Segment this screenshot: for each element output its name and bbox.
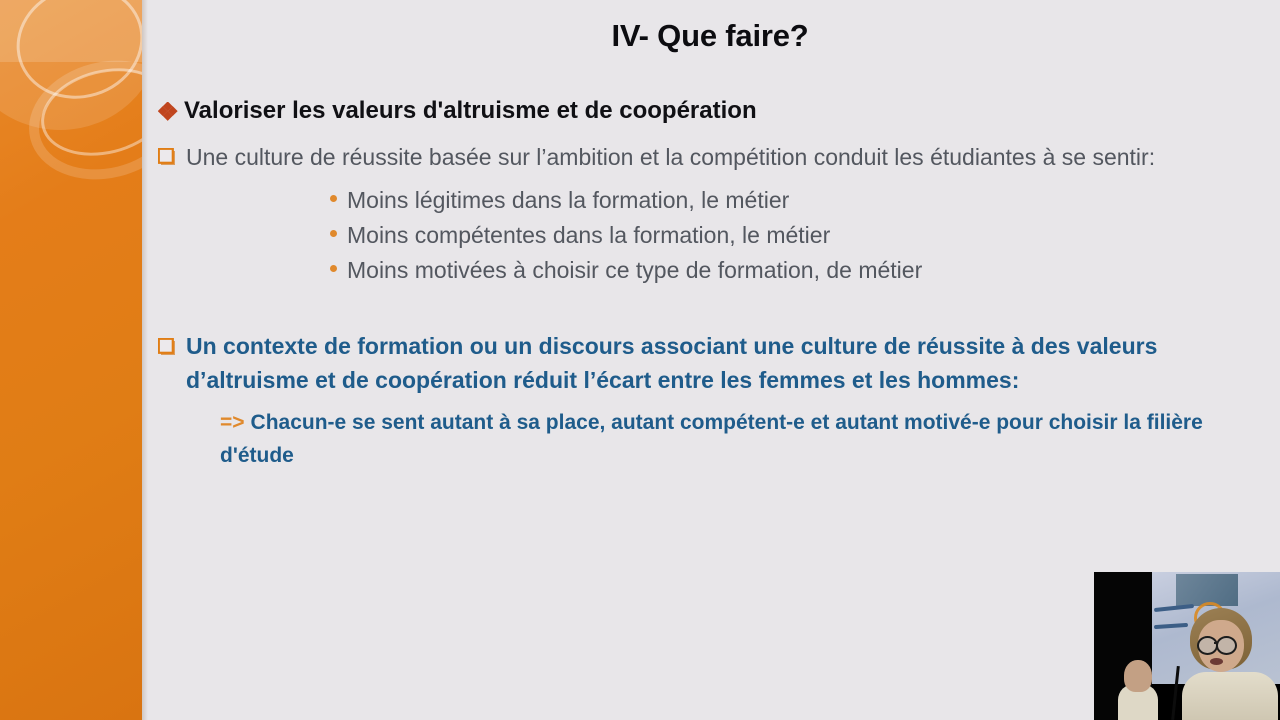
list-item: Moins motivées à choisir ce type de form…: [330, 253, 1268, 287]
speaker-glasses-left: [1197, 636, 1218, 655]
dot-bullet-icon: [330, 183, 347, 202]
sub-bullet-text: Moins compétentes dans la formation, le …: [347, 218, 830, 252]
block1-text: Une culture de réussite basée sur l’ambi…: [186, 140, 1155, 175]
slide-title: IV- Que faire?: [148, 18, 1272, 54]
presentation-slide: IV- Que faire? Valoriser les valeurs d'a…: [0, 0, 1280, 720]
arrow-marker: =>: [220, 411, 245, 434]
speaker-glasses-bridge: [1214, 642, 1217, 644]
list-item: Moins légitimes dans la formation, le mé…: [330, 183, 1268, 217]
heading-row: Valoriser les valeurs d'altruisme et de …: [158, 96, 1268, 126]
sidebar-shadow-edge: [142, 0, 148, 720]
list-item: Moins compétentes dans la formation, le …: [330, 218, 1268, 252]
conclusion-text: Chacun-e se sent autant à sa place, auta…: [220, 411, 1203, 467]
block2-row: Un contexte de formation ou un discours …: [158, 330, 1268, 398]
square-bullet-icon: [158, 140, 186, 166]
webcam-image: [1094, 572, 1280, 720]
block1-sub-bullet-list: Moins légitimes dans la formation, le mé…: [330, 183, 1268, 287]
sub-bullet-text: Moins légitimes dans la formation, le mé…: [347, 183, 789, 217]
speaker-hand: [1124, 660, 1152, 692]
sub-bullet-text: Moins motivées à choisir ce type de form…: [347, 253, 922, 287]
sidebar-decoration: [0, 0, 142, 720]
dot-bullet-icon: [330, 253, 347, 272]
diamond-cluster-bullet-icon: [158, 96, 184, 122]
speaker-glasses-right: [1216, 636, 1237, 655]
conclusion-line: =>Chacun-e se sent autant à sa place, au…: [220, 406, 1252, 472]
speaker-torso: [1182, 672, 1278, 720]
speaker-webcam-feed[interactable]: [1094, 572, 1280, 720]
square-bullet-icon: [158, 330, 186, 356]
slide-body: Valoriser les valeurs d'altruisme et de …: [158, 96, 1268, 472]
dot-bullet-icon: [330, 218, 347, 237]
block1-row: Une culture de réussite basée sur l’ambi…: [158, 140, 1268, 175]
heading-text: Valoriser les valeurs d'altruisme et de …: [184, 96, 757, 126]
spacer: [158, 288, 1268, 330]
speaker-mouth: [1210, 658, 1223, 665]
block2-text: Un contexte de formation ou un discours …: [186, 330, 1254, 398]
